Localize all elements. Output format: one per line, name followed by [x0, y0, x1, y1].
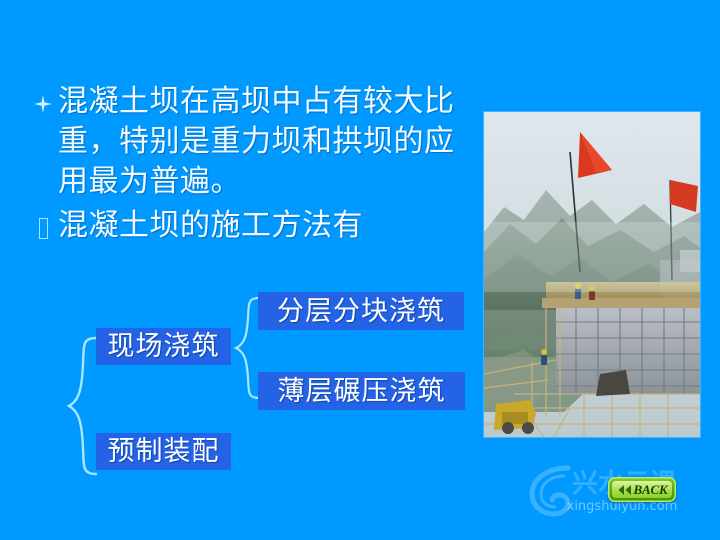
back-button-label: BACK	[634, 483, 668, 496]
watermark-swirl-logo	[532, 468, 568, 514]
list-item-label: 混凝土坝的施工方法有	[58, 206, 480, 246]
double-chevron-left-icon	[617, 484, 632, 496]
inner-brace-icon	[234, 296, 264, 400]
list-item-label: 混凝土坝在高坝中占有较大比重，特别是重力坝和拱坝的应用最为普遍。	[58, 82, 480, 202]
box-bullet-icon	[28, 206, 58, 248]
slide-canvas: 混凝土坝在高坝中占有较大比重，特别是重力坝和拱坝的应用最为普遍。 混凝土坝的施工…	[0, 0, 720, 540]
node-cast-in-place: 现场浇筑	[96, 328, 231, 365]
sparkle-bullet-icon	[28, 82, 58, 124]
list-item: 混凝土坝的施工方法有	[28, 206, 480, 248]
dam-construction-photo	[484, 112, 700, 437]
bullet-list: 混凝土坝在高坝中占有较大比重，特别是重力坝和拱坝的应用最为普遍。 混凝土坝的施工…	[28, 82, 480, 252]
node-thin-layer-rolled-pouring: 薄层碾压浇筑	[258, 372, 465, 410]
list-item: 混凝土坝在高坝中占有较大比重，特别是重力坝和拱坝的应用最为普遍。	[28, 82, 480, 202]
back-button[interactable]: BACK	[608, 477, 676, 502]
back-button-inner: BACK	[612, 481, 672, 498]
outer-brace-icon	[66, 336, 102, 476]
node-layered-block-pouring: 分层分块浇筑	[258, 292, 464, 330]
node-precast-assembly: 预制装配	[96, 433, 231, 470]
